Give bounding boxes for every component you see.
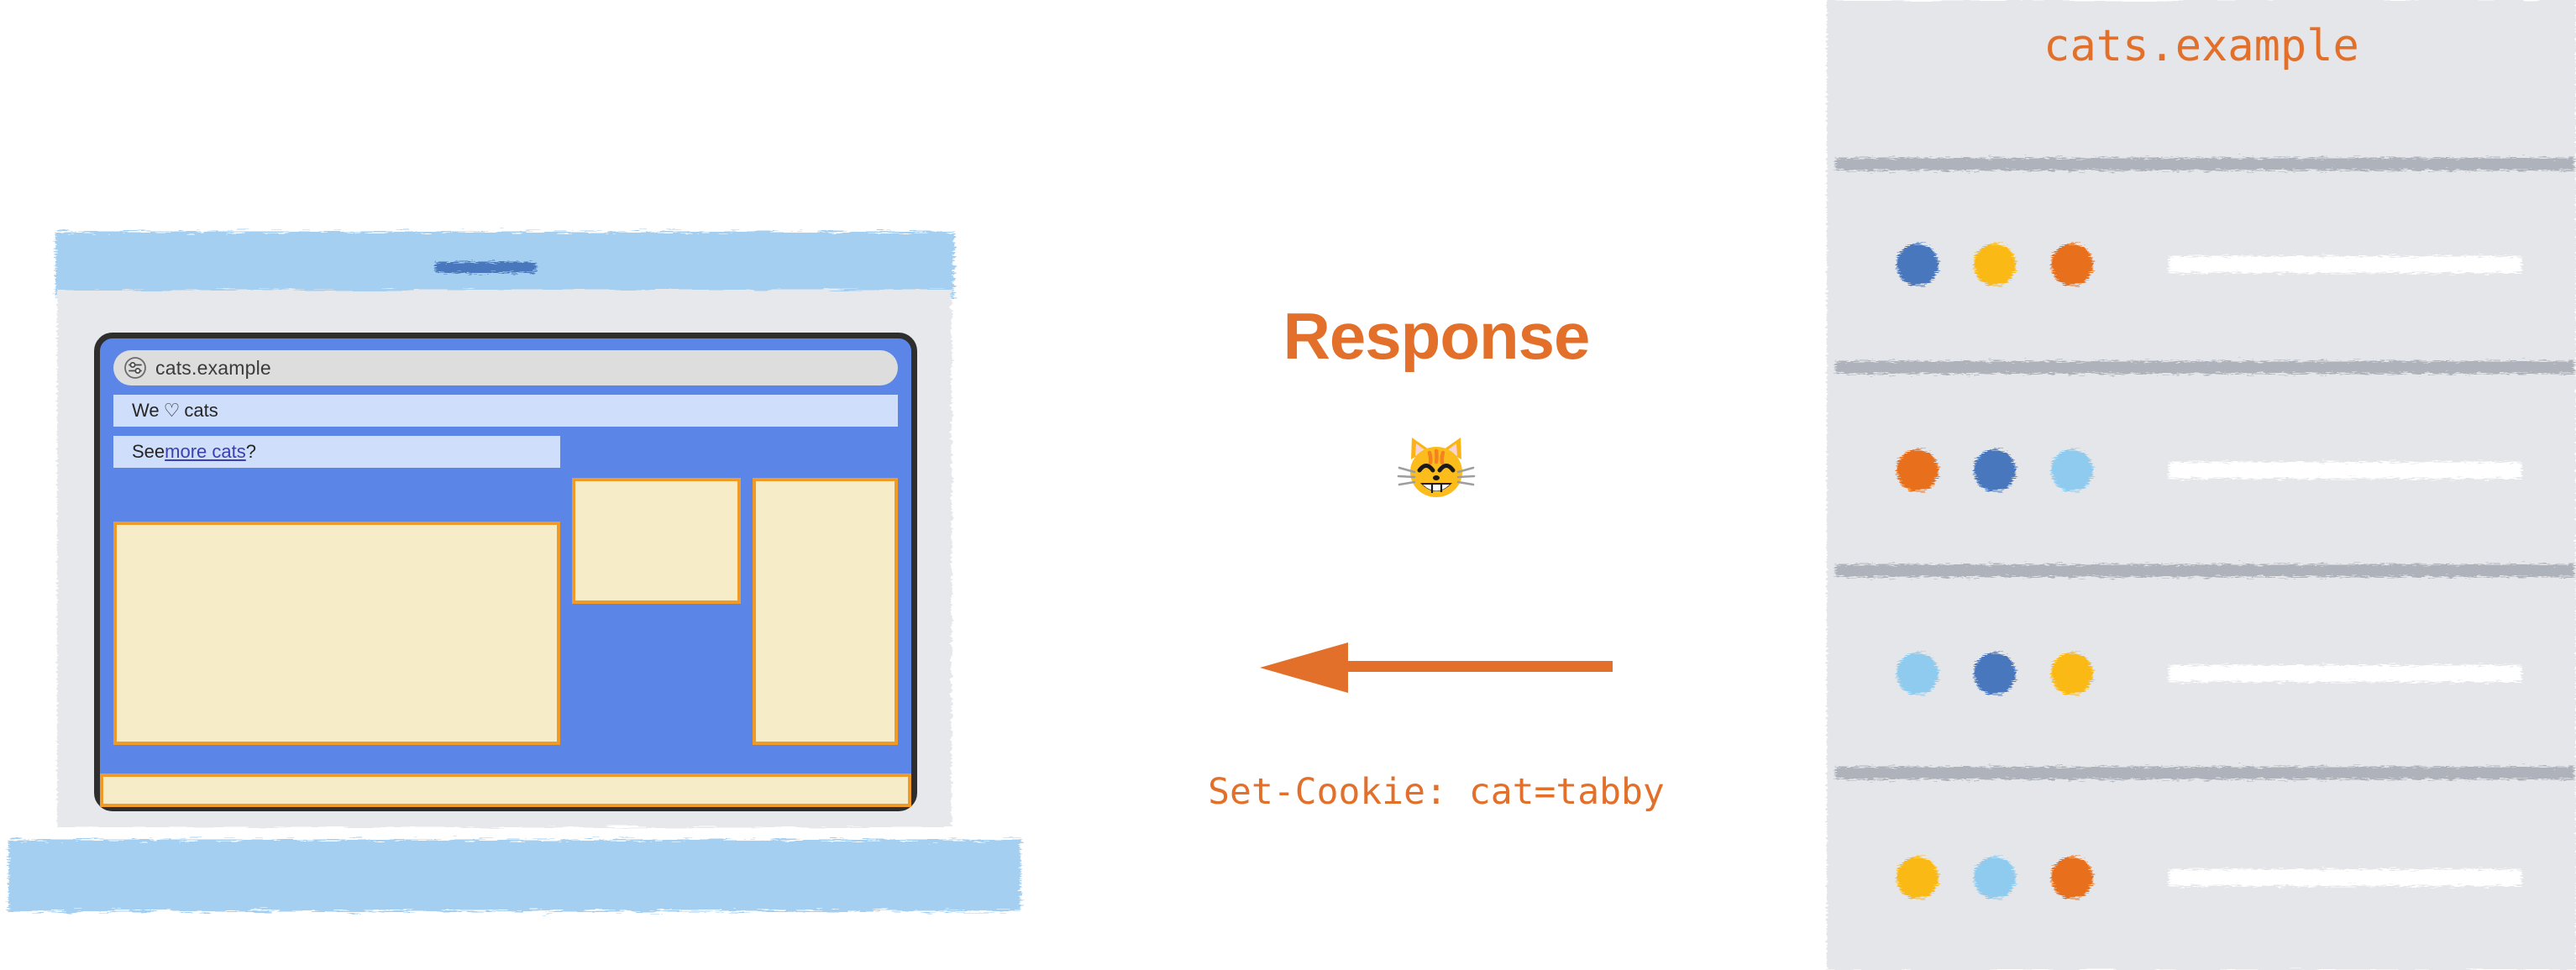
record-text-line: [2169, 256, 2521, 273]
record-dot-orange: [1897, 449, 1939, 491]
record-dot-yellow: [2051, 653, 2093, 695]
content-block-top-right: [572, 478, 741, 604]
record-text-line: [2169, 869, 2521, 886]
response-arrow: [1058, 638, 1814, 697]
more-cats-link[interactable]: more cats: [165, 441, 246, 463]
page-heading-before: We: [132, 400, 160, 422]
link-suffix: ?: [246, 441, 256, 463]
server-record-row[interactable]: [1827, 840, 2576, 915]
grinning-cat-emoji: [1058, 420, 1814, 512]
content-block-main: [113, 522, 560, 745]
page-heading-after: cats: [184, 400, 218, 422]
content-block-footer: [100, 773, 911, 807]
server-divider: [1835, 767, 2574, 779]
browser-url-bar[interactable]: cats.example: [113, 350, 898, 385]
record-dot-light-blue: [2051, 449, 2093, 491]
heart-icon: ♡: [164, 401, 181, 420]
set-cookie-header-text: Set-Cookie: cat=tabby: [1058, 771, 1814, 813]
site-settings-sliders-icon[interactable]: [123, 356, 147, 380]
server-title: cats.example: [1827, 21, 2576, 71]
record-dot-orange: [2051, 857, 2093, 899]
page-link-row: See more cats ?: [113, 436, 560, 468]
record-dot-blue: [1974, 653, 2016, 695]
page-content-grid: [113, 478, 898, 745]
camera-squiggle-icon: [435, 262, 536, 273]
server-record-row[interactable]: [1827, 433, 2576, 508]
laptop-base: [8, 840, 1020, 911]
record-dot-blue: [1974, 449, 2016, 491]
record-dot-light-blue: [1974, 857, 2016, 899]
record-text-line: [2169, 665, 2521, 682]
server-divider: [1835, 158, 2574, 170]
left-arrow-icon: [1260, 638, 1613, 697]
server-record-row[interactable]: [1827, 636, 2576, 711]
record-dot-light-blue: [1897, 653, 1939, 695]
content-block-sidebar: [753, 478, 898, 745]
record-dot-yellow: [1897, 857, 1939, 899]
server-panel: cats.example: [1827, 0, 2576, 970]
server-record-row[interactable]: [1827, 227, 2576, 302]
record-dot-yellow: [1974, 244, 2016, 286]
laptop-illustration: cats.example We ♡ cats See more cats ?: [0, 0, 1058, 970]
link-prefix: See: [132, 441, 165, 463]
server-divider: [1835, 564, 2574, 577]
url-text: cats.example: [155, 357, 271, 380]
response-column: Response: [1058, 0, 1814, 970]
response-title: Response: [1058, 298, 1814, 375]
record-dot-orange: [2051, 244, 2093, 286]
page-heading-row: We ♡ cats: [113, 395, 898, 427]
record-text-line: [2169, 462, 2521, 479]
record-dot-blue: [1897, 244, 1939, 286]
browser-window: cats.example We ♡ cats See more cats ?: [94, 333, 917, 811]
server-divider: [1835, 361, 2574, 374]
